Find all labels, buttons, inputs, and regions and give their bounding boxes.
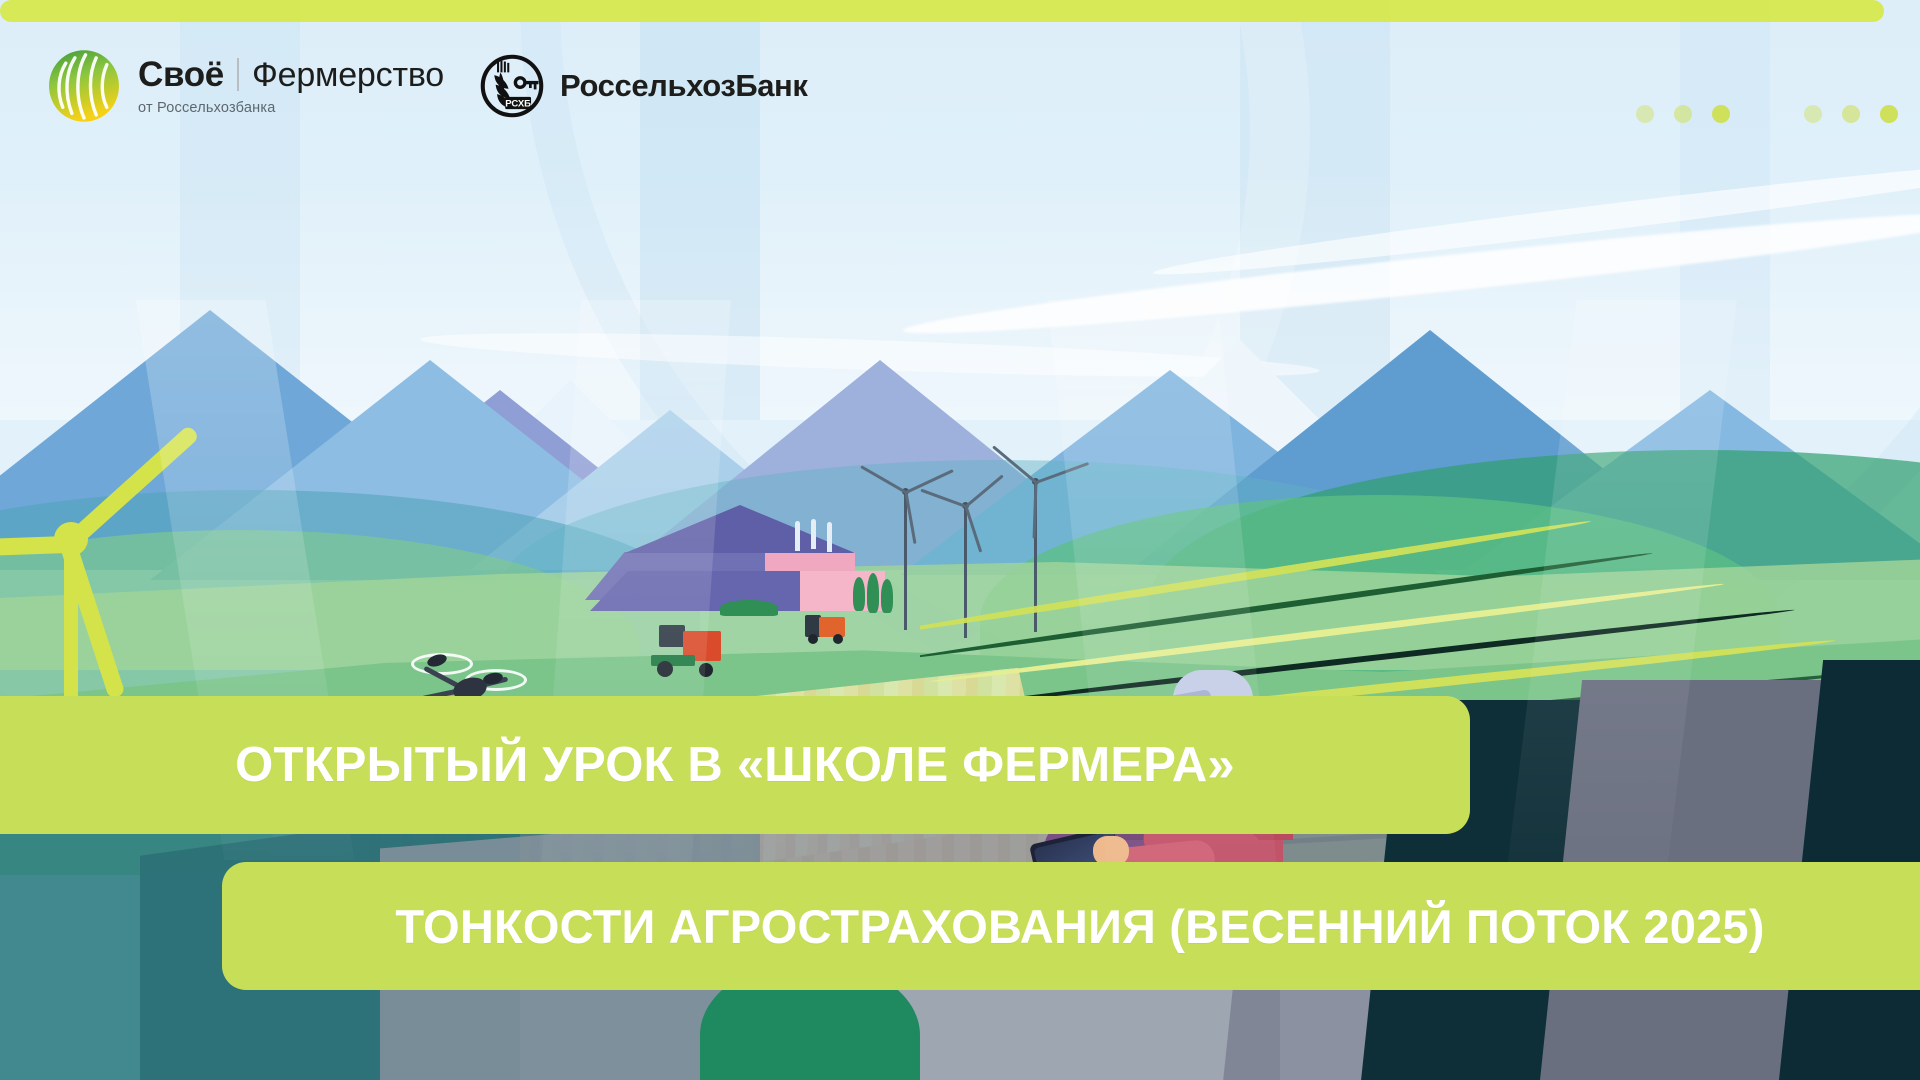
headline-bar: ОТКРЫТЫЙ УРОК В «ШКОЛЕ ФЕРМЕРА» [0,696,1470,834]
wheat-key-circle-logo-icon: РСХБ [478,52,546,120]
decorative-dot [1842,105,1860,123]
decorative-dot [1880,105,1898,123]
bush [720,600,778,616]
svoe-logo-text: Своё Фермерство от Россельхозбанка [138,57,444,116]
svg-text:РСХБ: РСХБ [505,98,531,109]
decorative-dot [1712,105,1730,123]
turbine-mast [904,492,907,630]
svoe-logo-tagline: от Россельхозбанка [138,101,444,116]
cypress-tree [881,579,893,613]
decorative-dot [1674,105,1692,123]
svoe-word: Своё [138,57,224,92]
rshb-logo[interactable]: РСХБ РоссельхозБанк [478,52,807,120]
cypress-tree [867,573,879,613]
barn-pipe [827,522,832,552]
decorative-dot [1804,105,1822,123]
logo-group: Своё Фермерство от Россельхозбанка [46,48,808,124]
logo-divider [237,58,239,91]
barn-pipe [795,521,800,551]
leaf-swirl-logo-icon [46,48,122,124]
truck-wheel [808,634,818,644]
rshb-logo-text: РоссельхозБанк [560,68,807,104]
barn-pipe [811,519,816,549]
headline-text: ОТКРЫТЫЙ УРОК В «ШКОЛЕ ФЕРМЕРА» [195,737,1235,793]
subheadline-text: ТОНКОСТИ АГРОСТРАХОВАНИЯ (ВЕСЕННИЙ ПОТОК… [395,899,1786,954]
turbine-hub [54,522,88,556]
truck-wheel [833,634,843,644]
truck-body [819,617,845,637]
subheadline-bar: ТОНКОСТИ АГРОСТРАХОВАНИЯ (ВЕСЕННИЙ ПОТОК… [222,862,1920,990]
poster-canvas: Своё Фермерство от Россельхозбанка [0,0,1920,1080]
decorative-dots [1636,105,1898,123]
dot-group-right [1804,105,1898,123]
svoe-logo-row: Своё Фермерство [138,57,444,92]
decorative-dot [1636,105,1654,123]
dot-group-left [1636,105,1730,123]
fermerstvo-word: Фермерство [252,58,444,92]
svoe-fermerstvo-logo[interactable]: Своё Фермерство от Россельхозбанка [46,48,444,124]
bottom-accent-strip [0,0,1884,22]
cypress-tree [853,577,865,611]
